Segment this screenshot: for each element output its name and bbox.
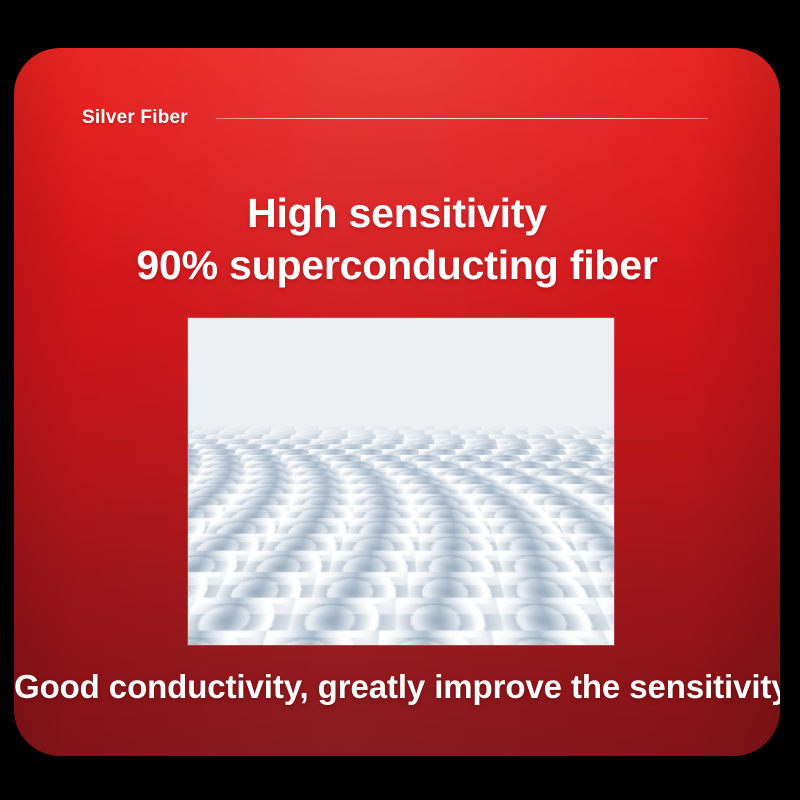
eyebrow-row: Silver Fiber <box>82 105 708 131</box>
headline-line-2: 90% superconducting fiber <box>14 240 780 292</box>
fiber-mesh-graphic <box>188 318 614 426</box>
fiber-highlight <box>188 505 614 511</box>
headline-line-1: High sensitivity <box>14 188 780 240</box>
fiber-highlight <box>188 426 614 428</box>
fiber-highlight <box>188 434 614 436</box>
fiber-highlight <box>188 449 614 452</box>
fiber-highlight <box>188 494 614 500</box>
fiber-highlight <box>188 518 614 526</box>
fiber-highlight <box>188 551 614 562</box>
fiber-highlight <box>188 468 614 472</box>
product-feature-card: Silver Fiber High sensitivity 90% superc… <box>14 48 780 756</box>
divider-rule-icon <box>216 118 708 119</box>
fiber-highlight <box>188 572 614 585</box>
fiber-highlight <box>188 439 614 441</box>
fiber-highlight <box>188 455 614 458</box>
screenshot-stage: Silver Fiber High sensitivity 90% superc… <box>0 0 800 800</box>
fiber-highlight <box>188 598 614 614</box>
caption-text: Good conductivity, greatly improve the s… <box>14 668 780 706</box>
fiber-highlight <box>188 444 614 447</box>
fiber-highlight <box>188 630 614 645</box>
fiber-mesh-row <box>188 630 614 645</box>
headline: High sensitivity 90% superconducting fib… <box>14 188 780 291</box>
fiber-highlight <box>188 476 614 480</box>
fiber-highlight <box>188 430 614 432</box>
fiber-highlight <box>188 461 614 464</box>
product-photo <box>188 318 614 645</box>
fiber-highlight <box>188 533 614 542</box>
eyebrow-label: Silver Fiber <box>82 107 188 129</box>
fiber-highlight <box>188 484 614 489</box>
